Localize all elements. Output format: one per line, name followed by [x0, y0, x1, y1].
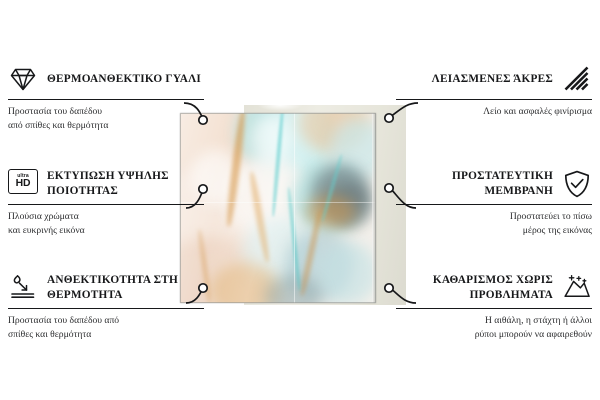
feature-divider [8, 308, 204, 309]
feature-high-quality-print: ultra HD ΕΚΤΥΠΩΣΗ ΥΨΗΛΗΣ ΠΟΙΟΤΗΤΑΣ Πλούσ… [8, 167, 204, 237]
feature-header: ΛΕΙΑΣΜΕΝΕΣ ΆΚΡΕΣ [396, 62, 592, 96]
diagonal-stripes-icon [562, 64, 592, 94]
feature-heat-durability: ΑΝΘΕΚΤΙΚΟΤΗΤΑ ΣΤΗ ΘΕΡΜΟΤΗΤΑ Προστασία το… [8, 271, 204, 341]
feature-title: ΕΚΤΥΠΩΣΗ ΥΨΗΛΗΣ ΠΟΙΟΤΗΤΑΣ [47, 169, 204, 199]
feature-easy-cleaning: ΚΑΘΑΡΙΣΜΟΣ ΧΩΡΙΣ ΠΡΟΒΛΗΜΑΤΑ Η αιθάλη, η … [396, 271, 592, 341]
feature-description: Προστασία του δαπέδουαπό σπίθες και θερμ… [8, 105, 204, 132]
feature-title: ΚΑΘΑΡΙΣΜΟΣ ΧΩΡΙΣ ΠΡΟΒΛΗΜΑΤΑ [396, 273, 553, 303]
feature-title: ΛΕΙΑΣΜΕΝΕΣ ΆΚΡΕΣ [432, 72, 553, 87]
feature-header: ΑΝΘΕΚΤΙΚΟΤΗΤΑ ΣΤΗ ΘΕΡΜΟΤΗΤΑ [8, 271, 204, 305]
diamond-icon [8, 64, 38, 94]
product-image-stage [180, 105, 406, 305]
glass-top-highlight [257, 99, 303, 111]
feature-description: Η αιθάλη, η στάχτη ή άλλοιρύποι μπορούν … [396, 314, 592, 341]
feature-description: Προστατεύει το πίσωμέρος της εικόνας [396, 210, 592, 237]
glass-panel-product-image[interactable] [180, 113, 376, 303]
glass-reflection-line-vertical [294, 113, 295, 303]
feature-divider [396, 204, 592, 205]
glass-reflection-line-horizontal [180, 202, 376, 203]
shield-check-icon [562, 169, 592, 199]
feature-divider [8, 99, 204, 100]
product-feature-infographic: ΘΕΡΜΟΑΝΘΕΚΤΙΚΟ ΓΥΑΛΙ Προστασία του δαπέδ… [0, 0, 600, 400]
feature-header: ΘΕΡΜΟΑΝΘΕΚΤΙΚΟ ΓΥΑΛΙ [8, 62, 204, 96]
feature-divider [396, 99, 592, 100]
feature-header: ΠΡΟΣΤΑΤΕΥΤΙΚΗ ΜΕΜΒΡΑΝΗ [396, 167, 592, 201]
glass-bevel-edge [372, 113, 376, 303]
feature-title: ΑΝΘΕΚΤΙΚΟΤΗΤΑ ΣΤΗ ΘΕΡΜΟΤΗΤΑ [47, 273, 204, 303]
flame-deflection-icon [8, 273, 38, 303]
feature-divider [396, 308, 592, 309]
feature-description: Λείο και ασφαλές φινίρισμα [396, 105, 592, 119]
feature-title: ΠΡΟΣΤΑΤΕΥΤΙΚΗ ΜΕΜΒΡΑΝΗ [396, 169, 553, 199]
cleaning-sparkle-icon [562, 273, 592, 303]
feature-header: ΚΑΘΑΡΙΣΜΟΣ ΧΩΡΙΣ ΠΡΟΒΛΗΜΑΤΑ [396, 271, 592, 305]
feature-description: Προστασία του δαπέδου απόσπίθες και θερμ… [8, 314, 204, 341]
feature-description: Πλούσια χρώματακαι ευκρινής εικόνα [8, 210, 204, 237]
ultra-hd-badge-icon: ultra HD [8, 169, 38, 199]
ultra-hd-badge-main-label: HD [16, 179, 31, 189]
feature-header: ultra HD ΕΚΤΥΠΩΣΗ ΥΨΗΛΗΣ ΠΟΙΟΤΗΤΑΣ [8, 167, 204, 201]
feature-heat-resistant-glass: ΘΕΡΜΟΑΝΘΕΚΤΙΚΟ ΓΥΑΛΙ Προστασία του δαπέδ… [8, 62, 204, 132]
feature-divider [8, 204, 204, 205]
feature-polished-edges: ΛΕΙΑΣΜΕΝΕΣ ΆΚΡΕΣ Λείο και ασφαλές φινίρι… [396, 62, 592, 119]
feature-title: ΘΕΡΜΟΑΝΘΕΚΤΙΚΟ ΓΥΑΛΙ [47, 72, 201, 87]
feature-protective-membrane: ΠΡΟΣΤΑΤΕΥΤΙΚΗ ΜΕΜΒΡΑΝΗ Προστατεύει το πί… [396, 167, 592, 237]
